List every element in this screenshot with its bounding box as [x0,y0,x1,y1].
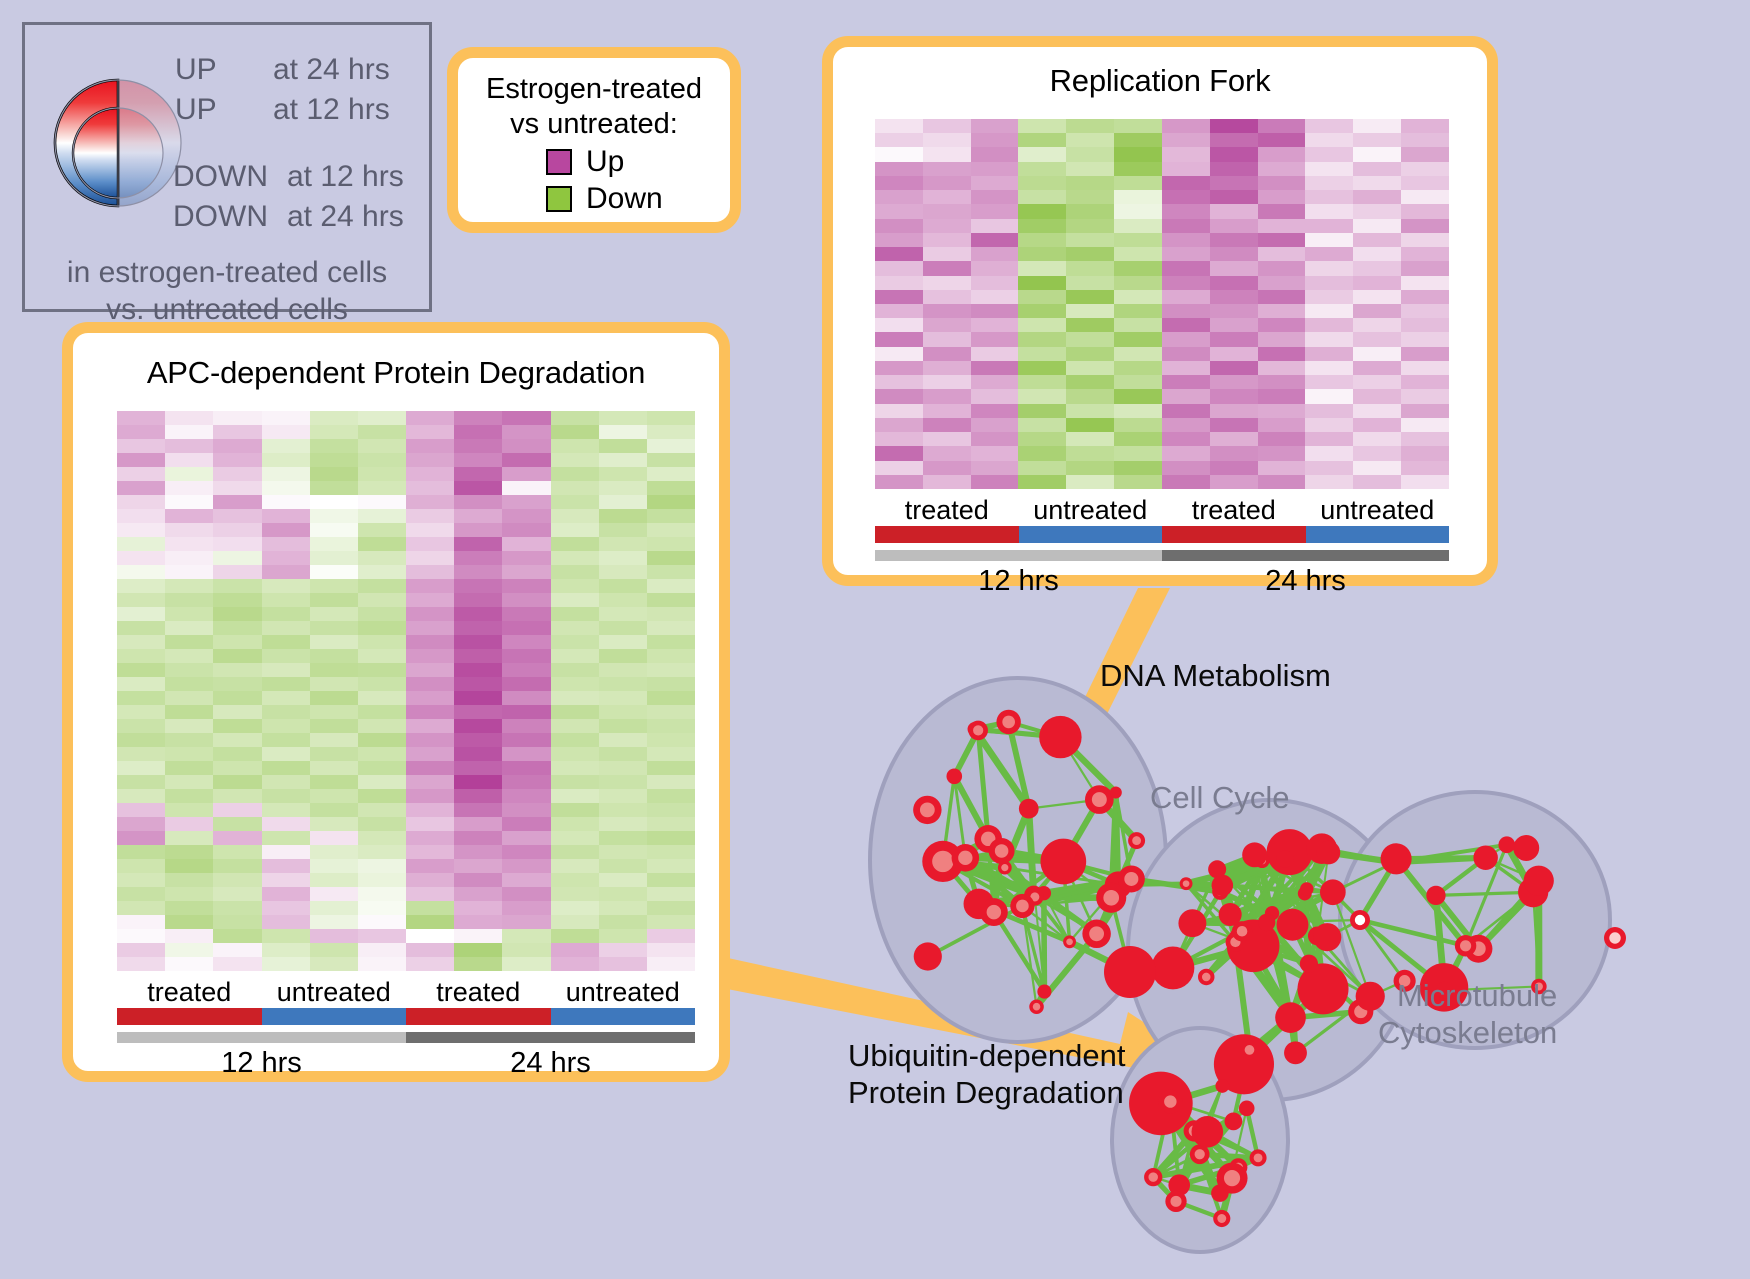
network-node[interactable] [946,769,962,785]
time-label-24: 24 hrs [406,1047,695,1080]
heatmap-cell [406,691,454,705]
condition-color-bar [875,526,1449,543]
heatmap-cell [358,873,406,887]
network-node[interactable] [1258,914,1275,931]
heatmap-cell [358,803,406,817]
network-node[interactable] [1240,1041,1259,1060]
heatmap-cell [923,147,971,161]
heatmap-cell [1066,432,1114,446]
heatmap-cell [1258,133,1306,147]
heatmap-cell [502,621,550,635]
heatmap-cell [551,747,599,761]
heatmap-cell [1401,318,1449,332]
heatmap-cell [165,663,213,677]
heatmap-cell [358,887,406,901]
heatmap-cell [1258,475,1306,489]
heatmap-cell [1018,119,1066,133]
heatmap-cell [647,565,695,579]
heatmap-cell [262,831,310,845]
heatmap-cell [971,318,1019,332]
network-edge [1044,893,1045,991]
heatmap-cell [923,404,971,418]
heatmap-cell [1353,332,1401,346]
heatmap-cell [1162,133,1210,147]
network-node[interactable] [1225,1112,1243,1130]
heatmap-cell [647,691,695,705]
heatmap-cell [165,537,213,551]
heatmap-cell [358,523,406,537]
network-node[interactable] [1426,886,1445,905]
heatmap-cell [406,551,454,565]
heatmap-cell [1210,176,1258,190]
heatmap-cell [502,481,550,495]
network-node[interactable] [1524,866,1554,896]
heatmap-cell [310,649,358,663]
network-node[interactable] [1063,935,1076,948]
heatmap-cell [213,733,261,747]
heatmap-cell [1401,418,1449,432]
heatmap-cell [599,523,647,537]
network-node[interactable] [1198,969,1214,985]
heatmap-cell [502,705,550,719]
heatmap-cell [358,943,406,957]
heatmap-cell [454,761,502,775]
network-node[interactable] [1242,842,1267,867]
heatmap-cell [262,817,310,831]
network-node[interactable] [1082,920,1110,948]
heatmap-cell [454,481,502,495]
heatmap-cell [1210,276,1258,290]
heatmap-cell [551,411,599,425]
heatmap-cell [551,677,599,691]
heatmap-cell [647,831,695,845]
network-node[interactable] [1128,832,1145,849]
heatmap-cell [875,133,923,147]
heatmap-cell [310,467,358,481]
network-node[interactable] [1300,882,1313,895]
heatmap-cell [454,803,502,817]
heatmap-cell [406,957,454,971]
heatmap-cell [551,523,599,537]
heatmap-cell [1018,347,1066,361]
heatmap-cell [502,663,550,677]
heatmap-cell [262,523,310,537]
heatmap-cell [117,845,165,859]
heatmap-cell [358,761,406,775]
network-node[interactable] [1604,927,1626,949]
heatmap-cell [310,901,358,915]
network-node[interactable] [1320,879,1346,905]
heatmap-cell [1114,176,1162,190]
heatmap-cell [310,831,358,845]
network-node[interactable] [1219,903,1242,926]
heatmap-cell [1114,204,1162,218]
heatmap-cell [1210,304,1258,318]
network-node[interactable] [996,710,1020,734]
heatmap-cell [310,453,358,467]
network-node[interactable] [1513,835,1539,861]
heatmap-cell [647,411,695,425]
network-node[interactable] [989,838,1015,864]
network-node[interactable] [1250,1149,1267,1166]
heatmap-cell [310,579,358,593]
network-node[interactable] [1039,716,1081,758]
heatmap-cell [599,607,647,621]
heatmap-cell [1162,361,1210,375]
network-node[interactable] [1473,845,1497,869]
heatmap-cell [1305,147,1353,161]
key-item-down: Down [546,182,730,216]
heatmap-cell [358,663,406,677]
heatmap-cell [406,943,454,957]
heatmap-cell [502,677,550,691]
heatmap-cell [1114,304,1162,318]
heatmap-cell [1401,162,1449,176]
heatmap-cell [165,425,213,439]
network-node[interactable] [1019,799,1039,819]
heatmap-cell [406,439,454,453]
heatmap-cell [1066,261,1114,275]
heatmap-cell [1353,418,1401,432]
heatmap-cell [454,719,502,733]
heatmap-cell [454,705,502,719]
heatmap-cell [262,677,310,691]
network-node[interactable] [980,898,1008,926]
heatmap-cell [1258,347,1306,361]
heatmap-cell [1114,347,1162,361]
heatmap-cell [117,915,165,929]
heatmap-cell [647,887,695,901]
heatmap-cell [213,509,261,523]
heatmap-cell [406,761,454,775]
heatmap-cell [1401,375,1449,389]
heatmap-cell [875,176,923,190]
heatmap-cell [1018,404,1066,418]
heatmap-cell [502,789,550,803]
heatmap-cell [454,635,502,649]
heatmap-cell [1162,304,1210,318]
heatmap-cell [165,929,213,943]
heatmap-cell [551,579,599,593]
network-node[interactable] [1215,1079,1229,1093]
heatmap-cell [551,663,599,677]
heatmap-cell [262,425,310,439]
heatmap-cell [551,943,599,957]
heatmap-cell [358,649,406,663]
heatmap-cell [502,873,550,887]
heatmap-cell [1162,147,1210,161]
heatmap-cell [406,593,454,607]
heatmap-cell [213,831,261,845]
heatmap-cell [406,425,454,439]
heatmap-cell [502,719,550,733]
heatmap-cell [1401,446,1449,460]
apc-axis: treated untreated treated untreated 12 h… [117,977,695,1080]
heatmap-cell [647,957,695,971]
heatmap-cell [1066,475,1114,489]
heatmap-cell [454,495,502,509]
network-node[interactable] [1144,1168,1162,1186]
heatmap-cell [1353,375,1401,389]
heatmap-cell [599,901,647,915]
heatmap-cell [971,176,1019,190]
heatmap-cell [1401,332,1449,346]
heatmap-cell [1114,133,1162,147]
heatmap-cell [1401,276,1449,290]
heatmap-cell [1066,219,1114,233]
heatmap-cell [454,425,502,439]
network-node[interactable] [968,721,988,741]
heatmap-cell [1066,347,1114,361]
heatmap-cell [406,817,454,831]
heatmap-cell [213,887,261,901]
heatmap-cell [599,509,647,523]
network-node[interactable] [1313,923,1341,951]
cond-bar-treated-24 [1162,526,1306,543]
heatmap-cell [647,579,695,593]
heatmap-cell [551,635,599,649]
heatmap-cell [358,915,406,929]
heatmap-cell [875,119,923,133]
network-node[interactable] [1180,877,1193,890]
heatmap-cell [165,887,213,901]
heatmap-cell [647,719,695,733]
heatmap-cell [1018,475,1066,489]
heatmap-cell [551,915,599,929]
heatmap-cell [599,565,647,579]
network-node[interactable] [1300,955,1318,973]
heatmap-cell [406,915,454,929]
heatmap-cell [599,915,647,929]
heatmap-cell [551,607,599,621]
network-node[interactable] [1118,865,1145,892]
heatmap-cell [310,481,358,495]
network-node[interactable] [1213,1210,1230,1227]
heatmap-cell [923,261,971,275]
cond-bar-untreated-24 [1306,526,1450,543]
heatmap-cell [262,845,310,859]
heatmap-cell [1353,318,1401,332]
heatmap-cell [551,929,599,943]
heatmap-cell [213,761,261,775]
heatmap-cell [551,509,599,523]
heatmap-cell [599,719,647,733]
network-node[interactable] [1455,935,1476,956]
heatmap-cell [165,439,213,453]
circle-colormap-legend: UP at 24 hrs UP at 12 hrs DOWN at 12 hrs… [22,22,432,312]
network-node[interactable] [1276,850,1293,867]
heatmap-cell [599,831,647,845]
network-node[interactable] [1277,909,1309,941]
heatmap-cell [454,565,502,579]
cond-bar-untreated-24 [551,1008,696,1025]
heatmap-cell [213,915,261,929]
heatmap-cell [358,845,406,859]
heatmap-cell [117,677,165,691]
network-node[interactable] [1040,839,1086,885]
heatmap-cell [502,453,550,467]
heatmap-cell [310,607,358,621]
key-label-up: Up [586,145,624,179]
heatmap-cell [647,607,695,621]
heatmap-cell [647,481,695,495]
heatmap-cell [406,481,454,495]
heatmap-cell [647,593,695,607]
network-node[interactable] [1212,875,1234,897]
heatmap-cell [117,817,165,831]
heatmap-cell [599,439,647,453]
replication-fork-title: Replication Fork [833,63,1487,99]
heatmap-cell [1401,233,1449,247]
heatmap-cell [1018,318,1066,332]
heatmap-cell [358,593,406,607]
network-node[interactable] [1029,999,1044,1014]
heatmap-cell [262,663,310,677]
heatmap-cell [310,565,358,579]
network-node[interactable] [914,942,942,970]
heatmap-cell [1353,190,1401,204]
network-node[interactable] [1239,1101,1255,1117]
network-node[interactable] [1010,894,1034,918]
heatmap-cell [1305,276,1353,290]
heatmap-cell [406,509,454,523]
heatmap-cell [923,176,971,190]
heatmap-cell [1401,389,1449,403]
heatmap-cell [117,943,165,957]
heatmap-cell [1066,247,1114,261]
heatmap-cell [310,411,358,425]
heatmap-cell [165,453,213,467]
heatmap-cell [923,375,971,389]
heatmap-cell [165,817,213,831]
heatmap-cell [1305,204,1353,218]
concentric-circle-diagram [53,43,183,243]
heatmap-cell [358,425,406,439]
heatmap-cell [165,719,213,733]
heatmap-cell [647,649,695,663]
network-node[interactable] [1178,909,1206,937]
heatmap-cell [1162,204,1210,218]
heatmap-cell [923,418,971,432]
heatmap-cell [1162,347,1210,361]
heatmap-cell [262,509,310,523]
heatmap-cell [875,247,923,261]
heatmap-cell [1210,233,1258,247]
apc-degradation-panel: APC-dependent Protein Degradation treate… [62,322,730,1082]
heatmap-cell [1258,290,1306,304]
heatmap-cell [599,551,647,565]
heatmap-cell [502,817,550,831]
time-color-bar [875,550,1449,561]
heatmap-cell [310,523,358,537]
heatmap-cell [647,789,695,803]
heatmap-cell [1162,219,1210,233]
heatmap-cell [1353,176,1401,190]
heatmap-cell [117,775,165,789]
heatmap-cell [875,147,923,161]
heatmap-cell [1210,119,1258,133]
heatmap-cell [1210,361,1258,375]
network-node[interactable] [1381,843,1412,874]
heatmap-cell [971,432,1019,446]
network-node[interactable] [1498,836,1515,853]
heatmap-cell [502,565,550,579]
heatmap-cell [406,523,454,537]
heatmap-cell [1162,389,1210,403]
heatmap-cell [117,425,165,439]
heatmap-cell [454,677,502,691]
legend-time-down-24: at 24 hrs [287,200,404,234]
heatmap-cell [117,495,165,509]
network-node[interactable] [1104,946,1156,998]
heatmap-cell [310,803,358,817]
heatmap-cell [923,133,971,147]
heatmap-cell [647,803,695,817]
heatmap-cell [1162,375,1210,389]
heatmap-cell [551,859,599,873]
network-node[interactable] [1211,1184,1229,1202]
heatmap-cell [406,719,454,733]
heatmap-cell [599,747,647,761]
heatmap-cell [599,859,647,873]
network-node[interactable] [913,796,941,824]
heatmap-cell [310,593,358,607]
heatmap-cell [165,957,213,971]
network-node[interactable] [1165,1191,1186,1212]
heatmap-cell [971,461,1019,475]
network-node[interactable] [1284,1041,1307,1064]
heatmap-cell [165,621,213,635]
network-node[interactable] [1350,910,1370,930]
heatmap-cell [1305,375,1353,389]
heatmap-cell [1018,247,1066,261]
network-node[interactable] [1192,1116,1224,1148]
heatmap-cell [502,579,550,593]
heatmap-cell [1258,432,1306,446]
heatmap-cell [551,481,599,495]
cond-bar-untreated-12 [1019,526,1163,543]
network-node[interactable] [1110,787,1122,799]
heatmap-cell [310,747,358,761]
heatmap-cell [875,461,923,475]
heatmap-cell [310,845,358,859]
heatmap-cell [262,803,310,817]
heatmap-cell [406,705,454,719]
heatmap-cell [551,775,599,789]
network-node[interactable] [1275,1002,1306,1033]
heatmap-cell [599,929,647,943]
heatmap-cell [117,439,165,453]
heatmap-cell [117,747,165,761]
heatmap-cell [406,635,454,649]
heatmap-cell [1162,276,1210,290]
heatmap-cell [358,439,406,453]
network-node[interactable] [952,844,980,872]
network-node[interactable] [1317,841,1341,865]
heatmap-cell [551,803,599,817]
cond-label-0: treated [875,495,1019,526]
heatmap-cell [454,859,502,873]
heatmap-cell [165,607,213,621]
network-node[interactable] [1158,1090,1182,1114]
heatmap-cell [1353,147,1401,161]
network-node[interactable] [1151,946,1194,989]
heatmap-cell [310,537,358,551]
network-node[interactable] [1037,985,1051,999]
heatmap-cell [454,831,502,845]
network-node[interactable] [1085,785,1114,814]
heatmap-cell [358,901,406,915]
